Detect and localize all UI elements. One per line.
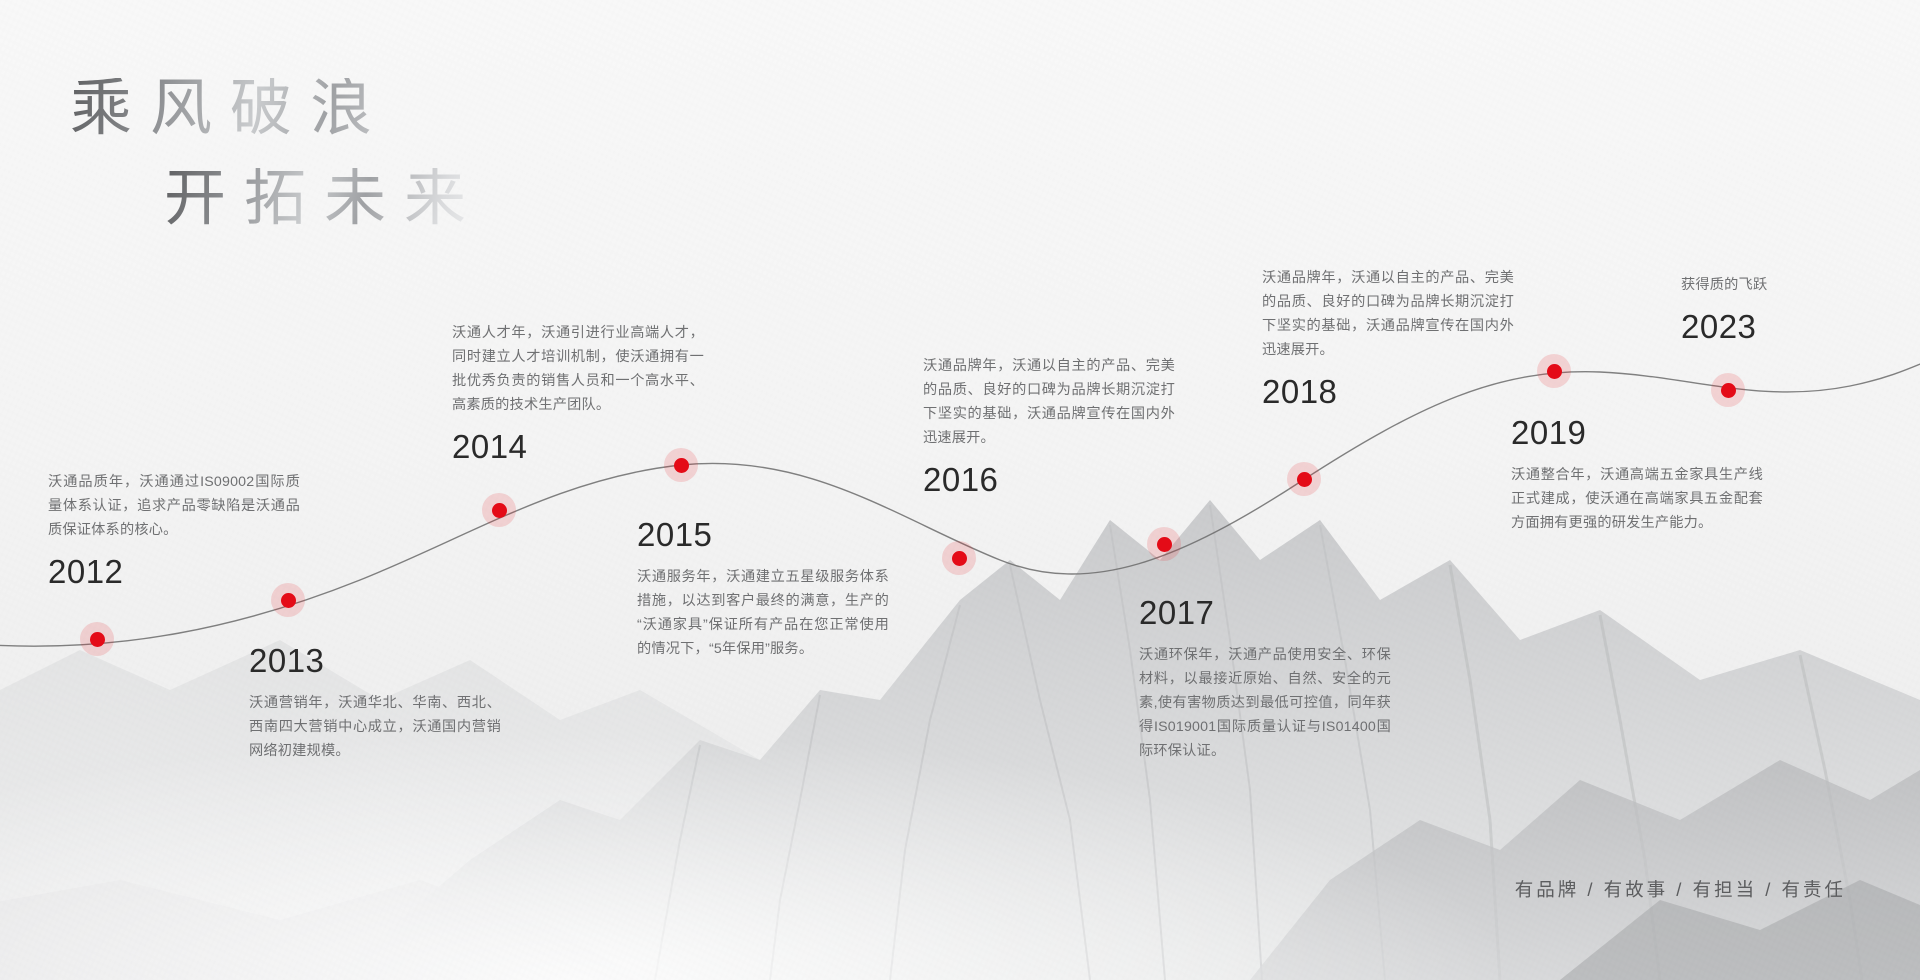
timeline-entry-2015: 2015沃通服务年，沃通建立五星级服务体系措施，以达到客户最终的满意，生产的“沃… [637, 517, 889, 661]
timeline-entry-2012: 沃通品质年，沃通通过IS09002国际质量体系认证，追求产品零缺陷是沃通品质保证… [48, 470, 300, 590]
entry-year-label: 2023 [1681, 309, 1920, 345]
entry-description: 沃通品牌年，沃通以自主的产品、完美的品质、良好的口碑为品牌长期沉淀打下坚实的基础… [1262, 266, 1514, 362]
entry-description: 沃通环保年，沃通产品使用安全、环保材料，以最接近原始、自然、安全的元素,使有害物… [1139, 643, 1391, 763]
page-title: 乘风破浪 开拓未来 [70, 78, 484, 230]
entry-description: 沃通整合年，沃通高端五金家具生产线正式建成，使沃通在高端家具五金配套方面拥有更强… [1511, 463, 1763, 535]
timeline-entry-2016: 沃通品牌年，沃通以自主的产品、完美的品质、良好的口碑为品牌长期沉淀打下坚实的基础… [923, 354, 1175, 498]
timeline-entry-2017: 2017沃通环保年，沃通产品使用安全、环保材料，以最接近原始、自然、安全的元素,… [1139, 595, 1391, 763]
timeline-entry-2014: 沃通人才年，沃通引进行业高端人才，同时建立人才培训机制，使沃通拥有一批优秀负责的… [452, 321, 704, 465]
timeline-dot-2013[interactable] [271, 583, 305, 617]
timeline-dot-2012[interactable] [80, 622, 114, 656]
timeline-dot-2018[interactable] [1287, 462, 1321, 496]
timeline-entry-2013: 2013沃通营销年，沃通华北、华南、西北、西南四大营销中心成立，沃通国内营销网络… [249, 643, 501, 763]
timeline-dot-2016[interactable] [942, 541, 976, 575]
entry-description: 沃通人才年，沃通引进行业高端人才，同时建立人才培训机制，使沃通拥有一批优秀负责的… [452, 321, 704, 417]
entry-year-label: 2016 [923, 462, 1175, 498]
entry-year-label: 2013 [249, 643, 501, 679]
timeline-infographic: 乘风破浪 开拓未来 沃通品质年，沃通通过IS09002国际质量体系认证，追求产品… [0, 0, 1920, 980]
timeline-dot-2014[interactable] [482, 493, 516, 527]
timeline-entry-2019: 2019沃通整合年，沃通高端五金家具生产线正式建成，使沃通在高端家具五金配套方面… [1511, 415, 1763, 535]
dot-core-icon [674, 458, 689, 473]
entry-year-label: 2015 [637, 517, 889, 553]
headline-line-2: 开拓未来 [164, 168, 484, 230]
timeline-dot-2023[interactable] [1711, 373, 1745, 407]
entry-year-label: 2012 [48, 554, 300, 590]
timeline-dot-2019[interactable] [1537, 354, 1571, 388]
dot-core-icon [90, 632, 105, 647]
dot-core-icon [952, 551, 967, 566]
timeline-dot-2015[interactable] [664, 448, 698, 482]
dot-core-icon [1547, 364, 1562, 379]
timeline-entry-2018: 沃通品牌年，沃通以自主的产品、完美的品质、良好的口碑为品牌长期沉淀打下坚实的基础… [1262, 266, 1514, 410]
entry-description: 沃通服务年，沃通建立五星级服务体系措施，以达到客户最终的满意，生产的“沃通家具”… [637, 565, 889, 661]
entry-description: 沃通营销年，沃通华北、华南、西北、西南四大营销中心成立，沃通国内营销网络初建规模… [249, 691, 501, 763]
dot-core-icon [281, 593, 296, 608]
entry-description: 沃通品质年，沃通通过IS09002国际质量体系认证，追求产品零缺陷是沃通品质保证… [48, 470, 300, 542]
entry-year-label: 2019 [1511, 415, 1763, 451]
entry-description: 获得质的飞跃 [1681, 273, 1920, 297]
dot-core-icon [492, 503, 507, 518]
dot-core-icon [1297, 472, 1312, 487]
entry-year-label: 2017 [1139, 595, 1391, 631]
entry-description: 沃通品牌年，沃通以自主的产品、完美的品质、良好的口碑为品牌长期沉淀打下坚实的基础… [923, 354, 1175, 450]
entry-year-label: 2018 [1262, 374, 1514, 410]
timeline-dot-2017[interactable] [1147, 527, 1181, 561]
dot-core-icon [1721, 383, 1736, 398]
headline-line-1: 乘风破浪 [70, 78, 484, 140]
dot-core-icon [1157, 537, 1172, 552]
timeline-entry-2023: 获得质的飞跃2023 [1681, 273, 1920, 345]
footer-tagline: 有品牌 / 有故事 / 有担当 / 有责任 [1515, 876, 1846, 902]
